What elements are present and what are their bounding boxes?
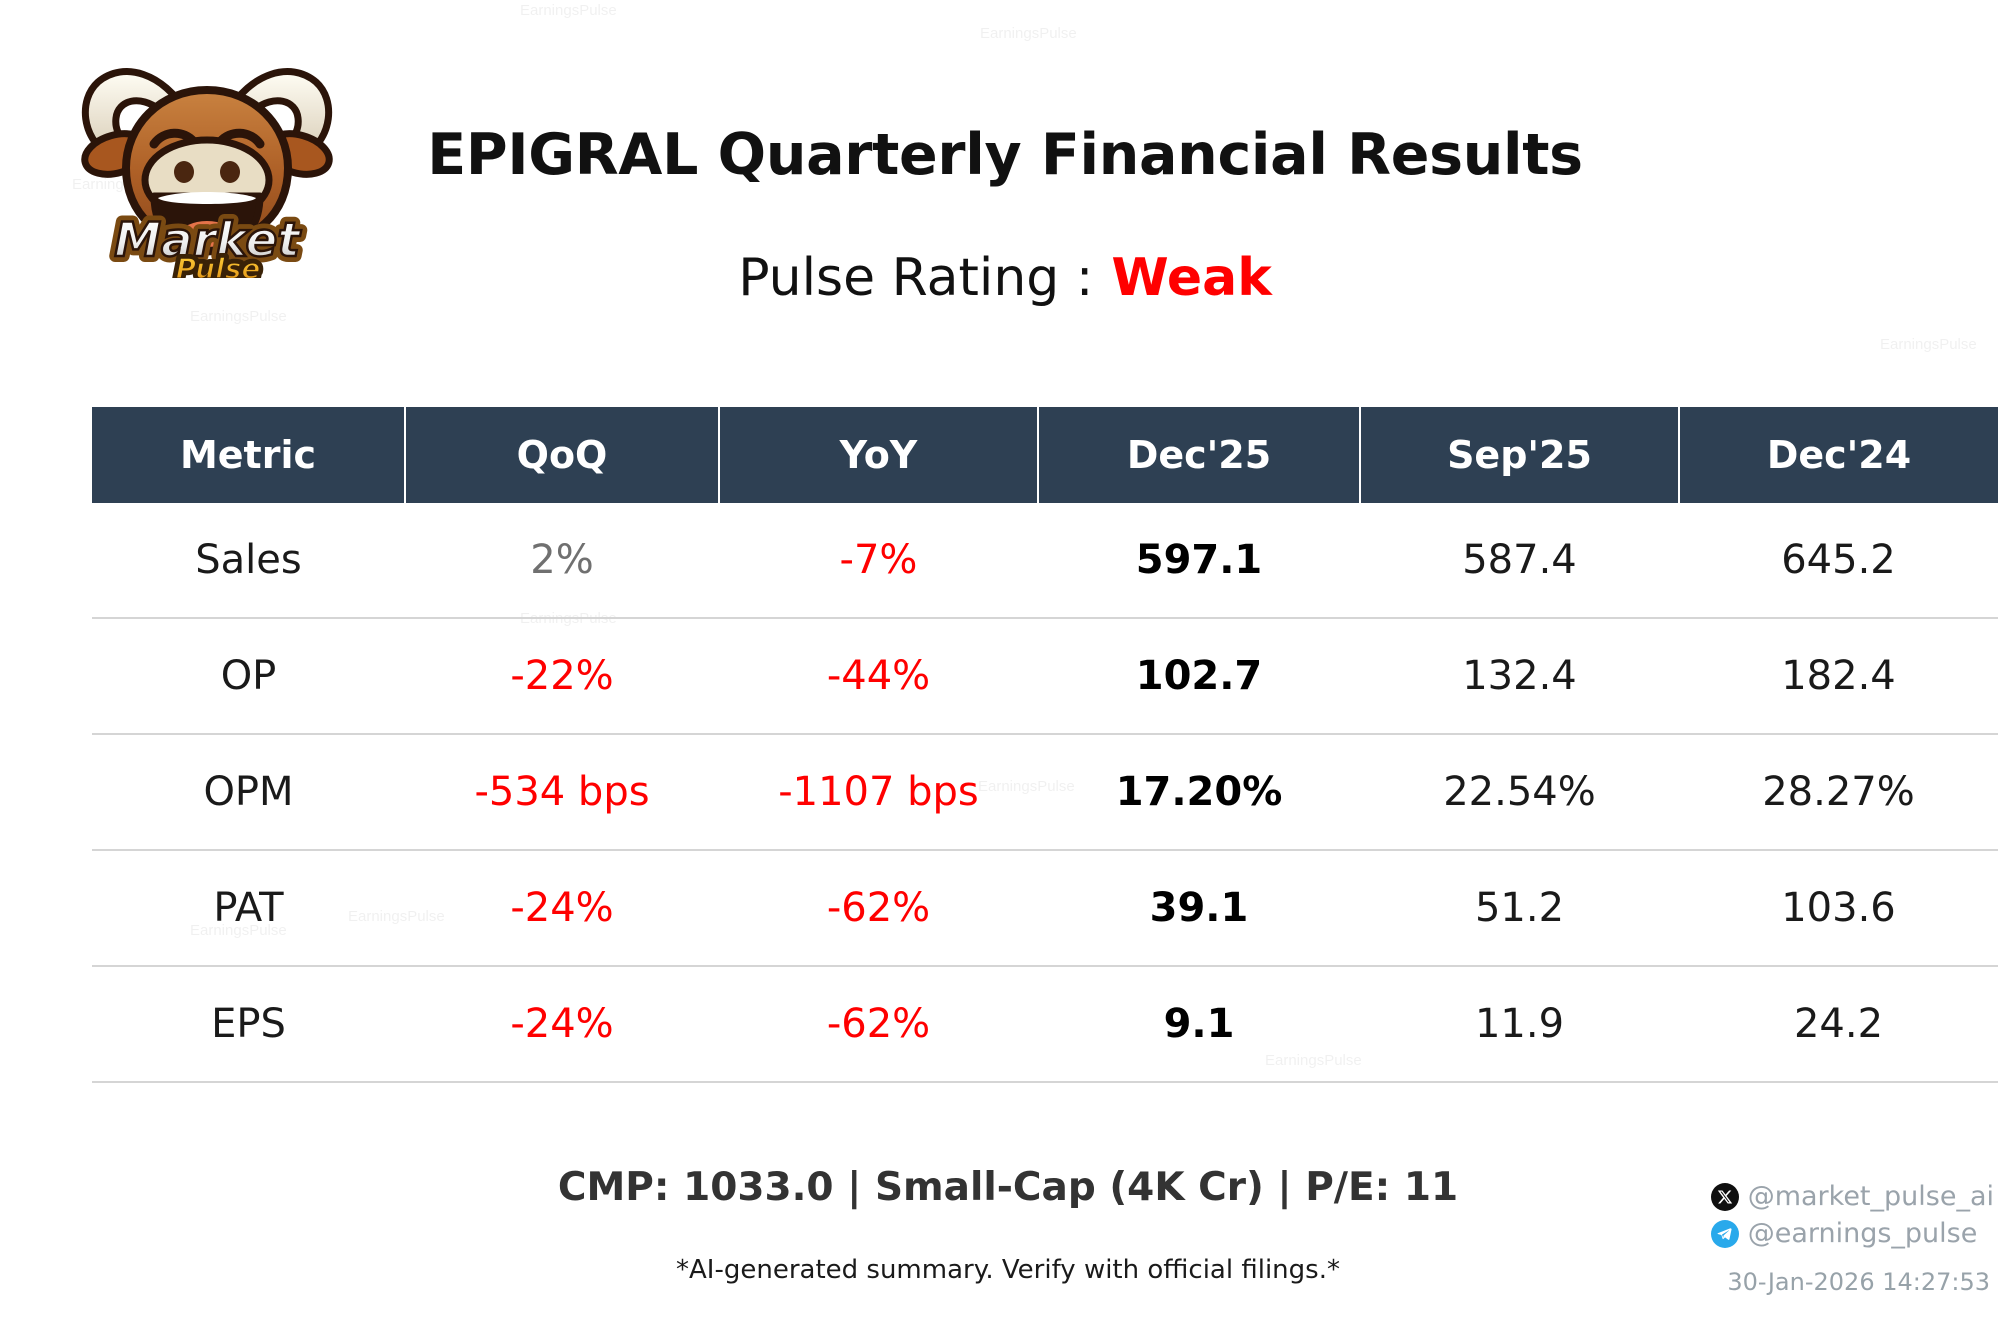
cell-qoq: -534 bps: [405, 734, 719, 850]
table-row: OP -22% -44% 102.7 132.4 182.4: [92, 618, 1998, 734]
cell-dec25: 17.20%: [1038, 734, 1360, 850]
column-header-dec25: Dec'25: [1038, 407, 1360, 503]
social-handle-telegram: @earnings_pulse: [1748, 1218, 1978, 1249]
pulse-rating: Pulse Rating :Weak: [380, 248, 1630, 308]
row-metric-label: OPM: [92, 734, 405, 850]
market-pulse-bull-logo: Market Market Pulse Pulse: [68, 38, 346, 278]
social-handles: @market_pulse_ai @earnings_pulse: [1711, 1178, 1994, 1252]
cell-dec24: 645.2: [1679, 503, 1998, 618]
cell-sep25: 587.4: [1360, 503, 1679, 618]
watermark: EarningsPulse: [1880, 336, 1977, 353]
cell-dec25: 39.1: [1038, 850, 1360, 966]
column-header-sep25: Sep'25: [1360, 407, 1679, 503]
logo-wordmark-pulse: Pulse: [176, 252, 261, 278]
row-metric-label: Sales: [92, 503, 405, 618]
cell-dec24: 24.2: [1679, 966, 1998, 1082]
pulse-rating-value: Weak: [1111, 248, 1271, 308]
cell-yoy: -62%: [719, 966, 1038, 1082]
row-metric-label: OP: [92, 618, 405, 734]
cell-dec24: 28.27%: [1679, 734, 1998, 850]
column-header-dec24: Dec'24: [1679, 407, 1998, 503]
table-row: EPS -24% -62% 9.1 11.9 24.2: [92, 966, 1998, 1082]
cell-sep25: 11.9: [1360, 966, 1679, 1082]
social-handle-x: @market_pulse_ai: [1748, 1181, 1994, 1212]
row-metric-label: EPS: [92, 966, 405, 1082]
cell-dec25: 102.7: [1038, 618, 1360, 734]
cell-sep25: 22.54%: [1360, 734, 1679, 850]
cell-qoq: -22%: [405, 618, 719, 734]
cell-sep25: 51.2: [1360, 850, 1679, 966]
cell-yoy: -44%: [719, 618, 1038, 734]
cell-sep25: 132.4: [1360, 618, 1679, 734]
telegram-icon: [1711, 1220, 1739, 1248]
cell-yoy: -7%: [719, 503, 1038, 618]
page-title: EPIGRAL Quarterly Financial Results: [380, 122, 1630, 188]
social-row-telegram[interactable]: @earnings_pulse: [1711, 1215, 1994, 1252]
cell-dec25: 597.1: [1038, 503, 1360, 618]
x-twitter-icon: [1711, 1183, 1739, 1211]
column-header-qoq: QoQ: [405, 407, 719, 503]
generation-timestamp: 30-Jan-2026 14:27:53: [1727, 1268, 1990, 1296]
table-row: Sales 2% -7% 597.1 587.4 645.2: [92, 503, 1998, 618]
cell-yoy: -62%: [719, 850, 1038, 966]
cell-dec24: 182.4: [1679, 618, 1998, 734]
social-row-x[interactable]: @market_pulse_ai: [1711, 1178, 1994, 1215]
watermark: EarningsPulse: [190, 308, 287, 325]
column-header-metric: Metric: [92, 407, 405, 503]
cell-dec25: 9.1: [1038, 966, 1360, 1082]
column-header-yoy: YoY: [719, 407, 1038, 503]
pulse-rating-label: Pulse Rating :: [738, 248, 1093, 308]
cell-qoq: -24%: [405, 966, 719, 1082]
table-row: OPM -534 bps -1107 bps 17.20% 22.54% 28.…: [92, 734, 1998, 850]
row-metric-label: PAT: [92, 850, 405, 966]
cell-dec24: 103.6: [1679, 850, 1998, 966]
watermark: EarningsPulse: [980, 25, 1077, 42]
table-row: PAT -24% -62% 39.1 51.2 103.6: [92, 850, 1998, 966]
cell-yoy: -1107 bps: [719, 734, 1038, 850]
financial-results-table: Metric QoQ YoY Dec'25 Sep'25 Dec'24 Sale…: [92, 407, 1976, 1083]
table-header-row: Metric QoQ YoY Dec'25 Sep'25 Dec'24: [92, 407, 1998, 503]
cell-qoq: -24%: [405, 850, 719, 966]
cell-qoq: 2%: [405, 503, 719, 618]
watermark: EarningsPulse: [520, 2, 617, 19]
disclaimer-text: *AI-generated summary. Verify with offic…: [0, 1255, 2016, 1285]
